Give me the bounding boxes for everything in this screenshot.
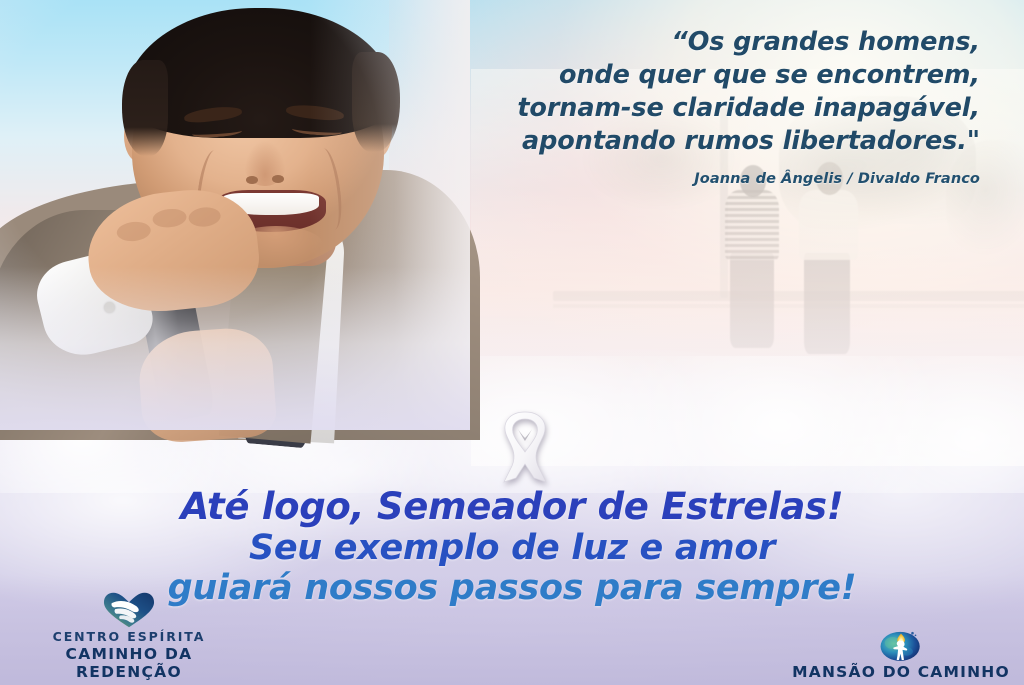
quote-line-3: tornam-se claridade inapagável,	[340, 92, 980, 125]
headline-line-1: Até logo, Semeador de Estrelas!	[0, 486, 1024, 528]
headline-block: Até logo, Semeador de Estrelas! Seu exem…	[0, 486, 1024, 608]
cuff-button	[104, 302, 115, 313]
quote-line-1: “Os grandes homens,	[340, 26, 980, 59]
nostril-right	[272, 175, 284, 183]
memorial-poster: “Os grandes homens, onde quer que se enc…	[0, 0, 1024, 685]
logo-right-text: MANSÃO DO CAMINHO	[792, 663, 1010, 681]
knuckle	[115, 220, 151, 242]
globe-figure-flame-logo-icon	[878, 625, 924, 663]
heart-hands-logo-icon	[101, 591, 157, 629]
white-memorial-ribbon-icon	[494, 410, 556, 486]
hand-holding-microphone	[136, 325, 277, 444]
knuckle	[152, 207, 188, 229]
logo-centro-espirita-caminho-da-redencao: CENTRO ESPÍRITA CAMINHO DA REDENÇÃO	[14, 591, 244, 681]
quote-block: “Os grandes homens, onde quer que se enc…	[340, 26, 980, 187]
knuckle	[187, 206, 221, 228]
logo-mansao-do-caminho: MANSÃO DO CAMINHO	[786, 625, 1016, 681]
hair-side-left	[122, 60, 168, 156]
quote-line-4: apontando rumos libertadores."	[340, 125, 980, 158]
quote-attribution: Joanna de Ângelis / Divaldo Franco	[340, 171, 980, 187]
nostril-left	[246, 176, 258, 184]
logo-right-line-1: MANSÃO DO CAMINHO	[792, 663, 1010, 681]
headline-line-2: Seu exemplo de luz e amor	[0, 528, 1024, 568]
logo-left-line-1: CENTRO ESPÍRITA	[14, 629, 244, 644]
quote-line-2: onde quer que se encontrem,	[340, 59, 980, 92]
logo-left-line-2: CAMINHO DA REDENÇÃO	[14, 645, 244, 681]
logo-left-text: CENTRO ESPÍRITA CAMINHO DA REDENÇÃO	[14, 629, 244, 681]
